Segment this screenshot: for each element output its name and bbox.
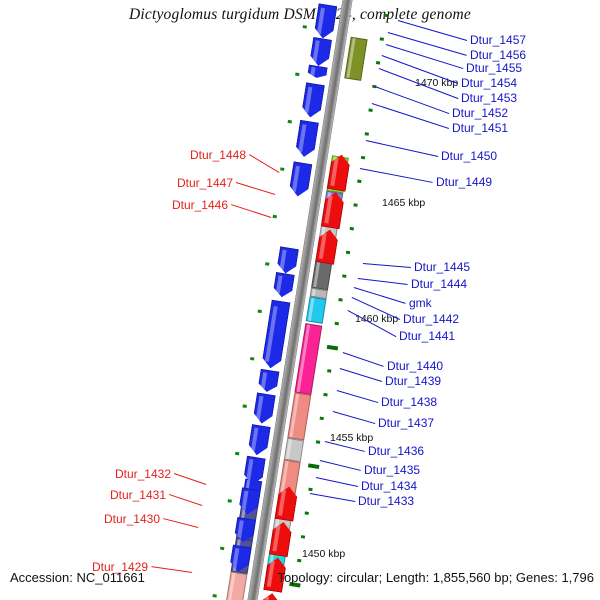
glyph-highlight [313,259,320,287]
ruler-tick-minor-left [235,452,239,456]
feature-label-dtur_1437[interactable]: Dtur_1437 [378,416,434,430]
ruler-tick-minor [383,14,387,18]
feature-label-dtur_1457[interactable]: Dtur_1457 [470,33,526,47]
glyph-highlight [246,459,253,481]
feature-label-dtur_1455[interactable]: Dtur_1455 [466,61,522,75]
feature-label-dtur_1431[interactable]: Dtur_1431 [110,488,166,502]
ruler-tick-minor [305,511,309,515]
ruler-tick-minor-left [227,499,231,503]
feature-label-dtur_1442[interactable]: Dtur_1442 [403,312,459,326]
feature-label-dtur_1436[interactable]: Dtur_1436 [368,444,424,458]
glyph-highlight [317,7,325,34]
leader-line-dtur_1450 [366,140,438,157]
ruler-tick-minor-left [212,594,216,598]
ruler-tick-minor [357,180,361,184]
ruler-tick-minor-left [288,120,292,124]
ruler-label-3: 1455 kbp [330,432,373,444]
glyph-highlight [265,306,278,361]
glyph-highlight [312,40,319,62]
leader-line-dtur_1431 [169,494,202,506]
gene-arrow-red-6[interactable] [256,592,282,600]
glyph-highlight [346,38,355,78]
feature-label-dtur_1433[interactable]: Dtur_1433 [358,494,414,508]
leader-line-dtur_1435 [320,460,361,471]
ruler-tick-minor-left [295,73,299,77]
glyph-highlight [232,548,239,569]
glyph-highlight [312,289,316,296]
gene-salmon-1440[interactable] [287,392,311,440]
glyph-highlight [276,275,283,294]
gene-arrow-blue-11[interactable] [247,424,270,457]
feature-label-dtur_1449[interactable]: Dtur_1449 [436,175,492,189]
leader-line-dtur_1451 [372,103,449,129]
ruler-tick-minor [380,37,384,41]
glyph-highlight [241,491,248,512]
glyph-highlight [223,573,235,600]
ruler-tick-minor-left [273,215,277,219]
feature-label-dtur_1444[interactable]: Dtur_1444 [411,277,467,291]
glyph-highlight [286,439,292,459]
feature-label-dtur_1447[interactable]: Dtur_1447 [177,176,233,190]
accession-text: Accession: NC_011661 [10,570,145,585]
ruler-tick-minor [323,393,327,397]
feature-label-dtur_1440[interactable]: Dtur_1440 [387,359,443,373]
gene-arrow-blue-7[interactable] [272,272,295,299]
ruler-tick-minor-left [265,262,269,266]
feature-label-dtur_1445[interactable]: Dtur_1445 [414,260,470,274]
gene-arrow-blue-4[interactable] [295,120,319,159]
gene-pink-1429[interactable] [221,571,247,600]
genome-summary-text: Topology: circular; Length: 1,855,560 bp… [277,570,594,585]
ruler-tick-minor-left [303,25,307,29]
glyph-highlight [292,165,300,192]
leader-line-dtur_1434 [316,477,358,487]
leader-line-dtur_1432 [174,473,206,485]
feature-label-dtur_1452[interactable]: Dtur_1452 [452,106,508,120]
ruler-tick-minor-left [258,310,262,314]
feature-label-dtur_1438[interactable]: Dtur_1438 [381,395,437,409]
ruler-tick-minor [350,227,354,231]
gene-cyan-1444[interactable] [306,296,327,323]
ruler-tick-minor [353,203,357,207]
genome-map-canvas: Dictyoglomus turgidum DSM 6724, complete… [0,0,600,600]
leader-line-dtur_1438 [337,390,378,403]
ruler-tick-major [308,463,319,469]
feature-label-dtur_1451[interactable]: Dtur_1451 [452,121,508,135]
ruler-tick-minor-left [220,547,224,551]
ruler-tick-minor [335,322,339,326]
page-title: Dictyoglomus turgidum DSM 6724, complete… [0,6,600,24]
glyph-highlight [260,597,269,600]
ruler-tick-minor [308,488,312,492]
feature-label-dtur_1432[interactable]: Dtur_1432 [115,467,171,481]
gene-arrow-blue-10[interactable] [252,392,275,425]
feature-label-dtur_1456[interactable]: Dtur_1456 [470,48,526,62]
ruler-tick-minor [297,559,301,563]
feature-label-dtur_1439[interactable]: Dtur_1439 [385,374,441,388]
ruler-tick-minor [316,440,320,444]
leader-line-dtur_1455 [386,44,463,69]
leader-line-dtur_1440 [343,352,384,367]
leader-line-dtur_1448 [249,154,280,173]
gene-lightgray-1439[interactable] [284,438,304,462]
feature-label-gmk[interactable]: gmk [409,296,432,310]
leader-line-dtur_1444 [358,278,408,285]
ruler-label-0: 1470 kbp [415,77,458,89]
feature-label-dtur_1453[interactable]: Dtur_1453 [461,91,517,105]
ruler-tick-minor [365,132,369,136]
glyph-highlight [251,428,259,452]
leader-line-dtur_1429 [151,566,192,573]
ruler-tick-minor [301,535,305,539]
feature-label-dtur_1434[interactable]: Dtur_1434 [361,479,417,493]
glyph-highlight [261,372,268,389]
gene-arrow-blue-2[interactable] [307,65,328,80]
ruler-tick-minor-left [280,167,284,171]
ruler-label-1: 1465 kbp [382,197,425,209]
glyph-highlight [304,86,312,113]
glyph-highlight [256,396,264,420]
glyph-highlight [280,250,287,271]
gene-arrow-blue-9[interactable] [257,369,279,394]
gene-arrow-blue-6[interactable] [276,246,299,275]
leader-line-dtur_1445 [363,263,411,268]
leader-line-dtur_1446 [231,204,271,218]
feature-label-dtur_1441[interactable]: Dtur_1441 [399,329,455,343]
gene-olive-1457[interactable] [344,37,367,81]
leader-line-dtur_1447 [236,182,275,195]
leader-line-dtur_1449 [360,168,433,183]
feature-label-dtur_1448[interactable]: Dtur_1448 [190,148,246,162]
gene-arrow-blue-3[interactable] [301,82,325,119]
glyph-highlight [298,124,306,153]
glyph-highlight [237,520,244,539]
ruler-tick-minor [361,156,365,160]
feature-label-dtur_1450[interactable]: Dtur_1450 [441,149,497,163]
ruler-tick-minor [327,369,331,373]
feature-label-dtur_1430[interactable]: Dtur_1430 [104,512,160,526]
leader-line-dtur_1439 [340,368,382,382]
glyph-highlight [308,298,315,321]
feature-label-dtur_1454[interactable]: Dtur_1454 [461,76,517,90]
glyph-highlight [289,394,299,438]
ruler-tick-minor [338,298,342,302]
ruler-tick-minor [368,108,372,112]
leader-line-dtur_1433 [310,493,355,502]
ruler-tick-minor-left [250,357,254,361]
feature-label-dtur_1446[interactable]: Dtur_1446 [172,198,228,212]
leader-line-dtur_1430 [163,518,198,528]
feature-label-dtur_1435[interactable]: Dtur_1435 [364,463,420,477]
ruler-tick-minor [346,251,350,255]
ruler-tick-minor [342,274,346,278]
ruler-tick-major [327,345,338,351]
ruler-tick-minor [376,61,380,65]
glyph-highlight [310,67,315,76]
gene-arrow-blue-5[interactable] [288,161,312,198]
ruler-tick-minor [320,417,324,421]
gene-arrow-blue-1[interactable] [309,37,332,68]
ruler-tick-minor-left [243,404,247,408]
ruler-label-4: 1450 kbp [302,548,345,560]
leader-line-dtur_1437 [333,411,375,424]
